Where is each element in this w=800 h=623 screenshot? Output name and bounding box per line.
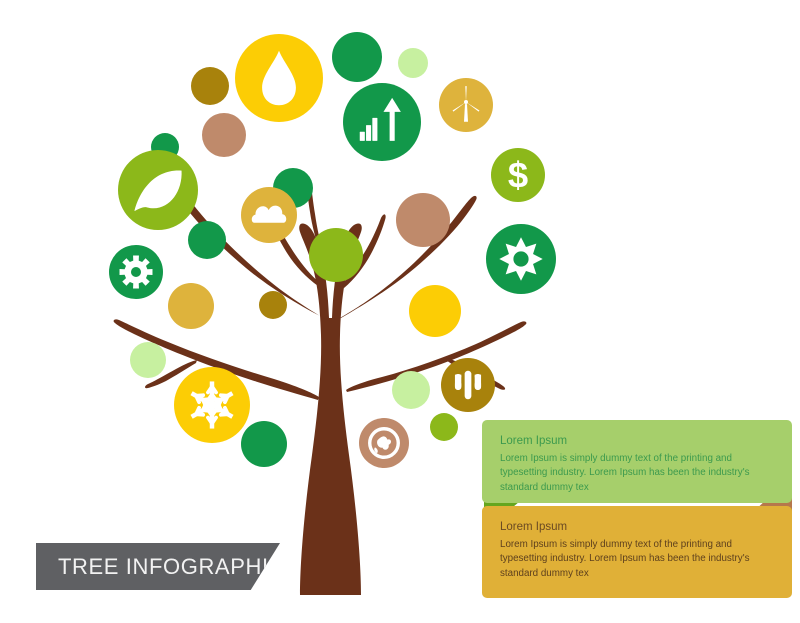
- gear-icon: [120, 256, 153, 289]
- callout-green-body: Lorem Ipsum is simply dummy text of the …: [500, 452, 762, 496]
- icon-node-cloud[interactable]: [241, 187, 297, 243]
- tree-dot-circle: [392, 371, 430, 409]
- tree-dot-circle: [259, 291, 287, 319]
- tree-dot-circle: [398, 48, 428, 78]
- tree-dot-circle: [430, 413, 458, 441]
- icon-node-wind-turbine[interactable]: [439, 78, 493, 132]
- tree-dot-circle: [241, 421, 287, 467]
- svg-text:$: $: [508, 155, 528, 196]
- tree-dot-circle: [332, 32, 382, 82]
- infographic-canvas: $ Lorem Ipsum Lorem Ipsum is simply dumm…: [0, 0, 800, 623]
- tree-dot-circle: [168, 283, 214, 329]
- icon-circle-background: [343, 83, 421, 161]
- callout-gold-title: Lorem Ipsum: [500, 520, 774, 536]
- icon-node-gear[interactable]: [109, 245, 163, 299]
- tree-dot-circle: [188, 221, 226, 259]
- icon-node-bar-chart-growth[interactable]: [343, 83, 421, 161]
- tree-dot-circle: [409, 285, 461, 337]
- dollar-sign-icon: $: [508, 155, 528, 196]
- callout-card-gold[interactable]: Lorem Ipsum Lorem Ipsum is simply dummy …: [482, 506, 792, 598]
- tree-dot-circle: [191, 67, 229, 105]
- callout-gold-body: Lorem Ipsum is simply dummy text of the …: [500, 538, 762, 582]
- icon-node-snowflake[interactable]: [174, 367, 250, 443]
- tree-dot-circle: [309, 228, 363, 282]
- tree-dot-circle: [130, 342, 166, 378]
- page-title: TREE INFOGRAPHIC: [58, 554, 285, 580]
- tree-dot-circle: [202, 113, 246, 157]
- icon-node-globe-earth[interactable]: [359, 418, 409, 468]
- sun-icon: [499, 237, 542, 280]
- tree-dot-circle: [396, 193, 450, 247]
- callout-green-title: Lorem Ipsum: [500, 434, 774, 450]
- callout-card-green[interactable]: Lorem Ipsum Lorem Ipsum is simply dummy …: [482, 420, 792, 503]
- icon-node-water-drop[interactable]: [235, 34, 323, 122]
- icon-node-sun[interactable]: [486, 224, 556, 294]
- icon-node-dollar-sign[interactable]: $: [491, 148, 545, 202]
- icon-node-cactus[interactable]: [441, 358, 495, 412]
- title-banner: TREE INFOGRAPHIC: [36, 543, 280, 590]
- icon-node-leaf[interactable]: [118, 150, 198, 230]
